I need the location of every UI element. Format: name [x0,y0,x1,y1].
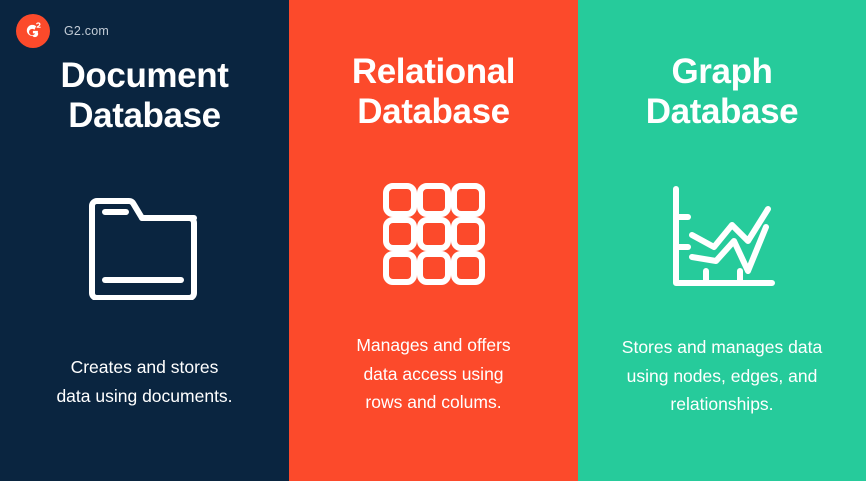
panel-graph-database: Graph Database Stores and manages data u… [578,0,866,481]
grid-3x3-icon [381,169,487,299]
brand-name: G2.com [64,25,109,38]
panel-caption-graph: Stores and manages data using nodes, edg… [596,333,848,419]
g2-logo-icon [16,14,50,48]
folder-icon [83,181,207,311]
panel-caption-relational: Manages and offers data access using row… [330,331,536,417]
panel-title-document: Document Database [47,56,243,135]
brand: G2.com [16,14,109,48]
panel-caption-document: Creates and stores data using documents. [30,353,258,410]
panel-title-graph: Graph Database [632,52,812,131]
line-chart-icon [668,173,776,303]
panel-title-relational: Relational Database [338,52,529,131]
panel-relational-database: Relational Database Manages and offers d… [289,0,578,481]
database-types-infographic: G2.com Document Database Creates and sto… [0,0,866,481]
panel-document-database: G2.com Document Database Creates and sto… [0,0,289,481]
